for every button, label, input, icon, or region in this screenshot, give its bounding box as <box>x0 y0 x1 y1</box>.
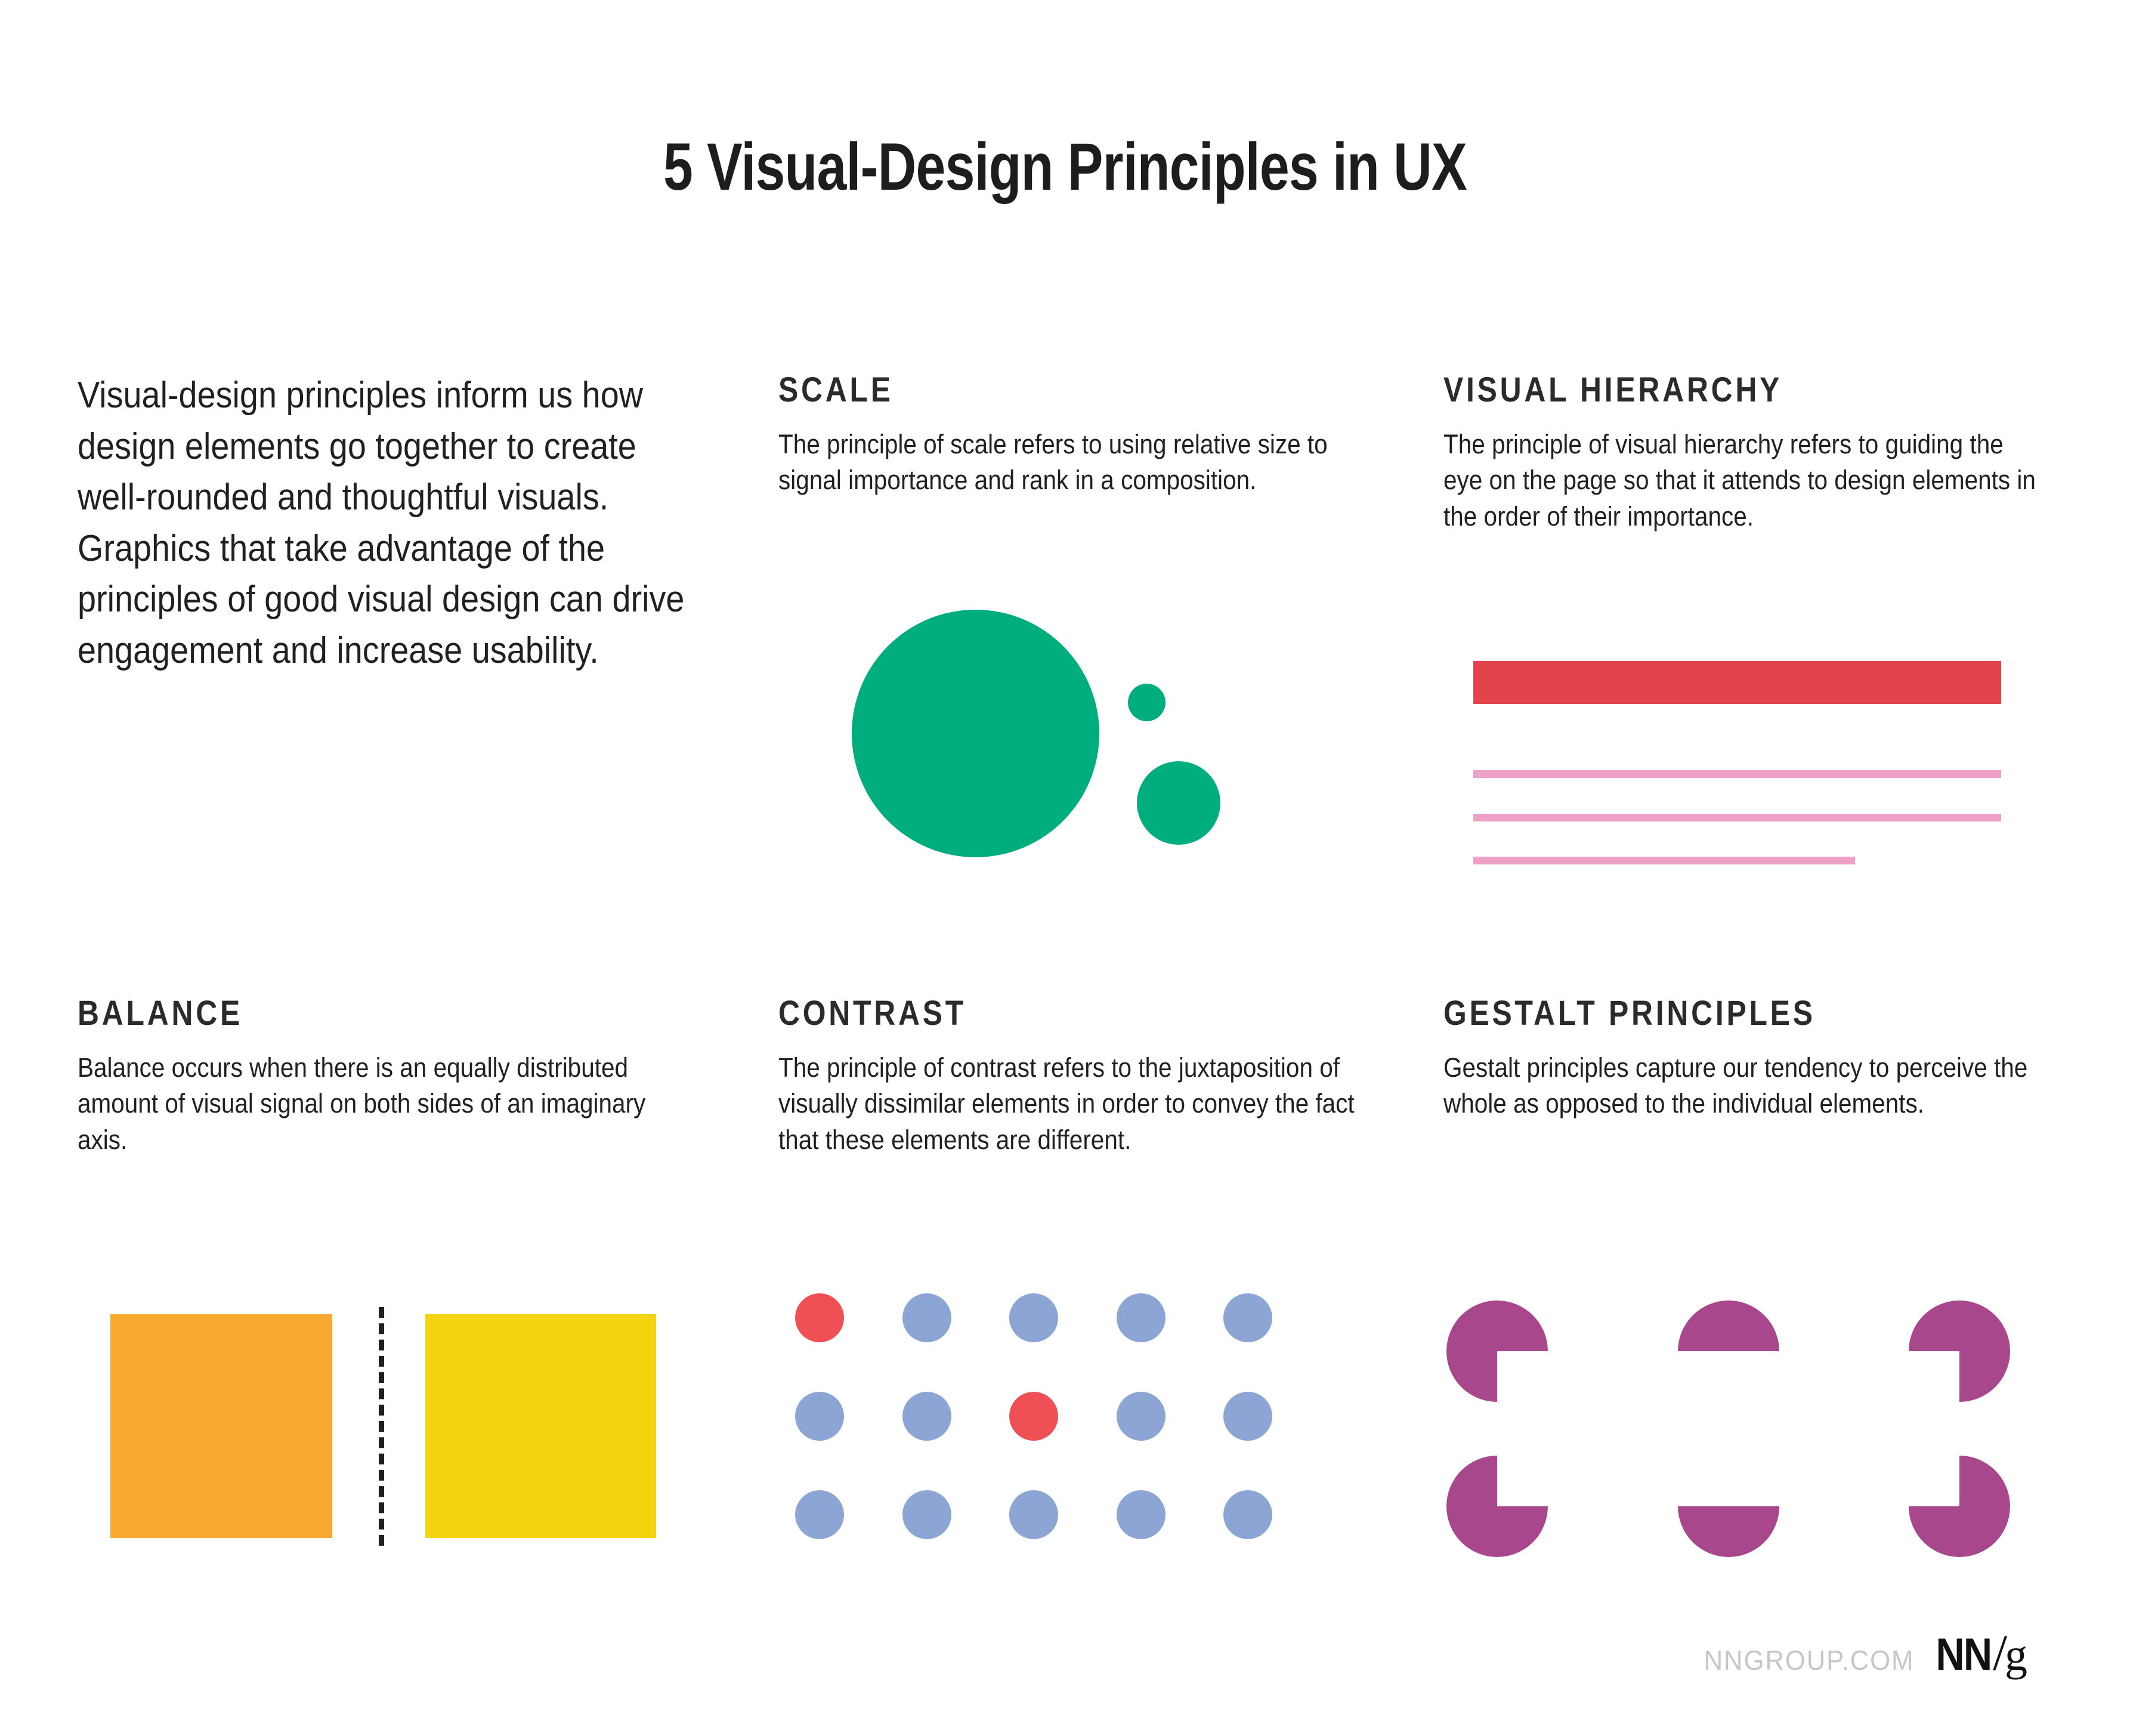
dot-row <box>795 1490 1272 1539</box>
footer-url: NNGROUP.COM <box>1704 1644 1915 1676</box>
dot-blue <box>1009 1293 1058 1342</box>
dot-blue <box>1223 1293 1272 1342</box>
section-heading-contrast: CONTRAST <box>778 993 1271 1033</box>
section-balance: BALANCE Balance occurs when there is an … <box>78 993 698 1158</box>
pacman-top-middle-icon <box>1678 1301 1779 1402</box>
section-gestalt-principles: GESTALT PRINCIPLES Gestalt principles ca… <box>1443 993 2028 1122</box>
gestalt-graphic <box>1446 1301 2010 1557</box>
contrast-graphic <box>795 1293 1272 1539</box>
page-title: 5 Visual-Design Principles in UX <box>213 128 1917 205</box>
yellow-square-icon <box>425 1314 656 1538</box>
pacman-top-right-icon <box>1909 1301 2010 1402</box>
section-body-gestalt-principles: Gestalt principles capture our tendency … <box>1443 1050 2037 1122</box>
footer: NNGROUP.COM NN / g <box>1693 1623 2027 1682</box>
text-line-3-icon <box>1473 857 1855 864</box>
section-scale: SCALE The principle of scale refers to u… <box>778 370 1351 499</box>
small-circle-icon <box>1128 684 1166 721</box>
section-body-scale: The principle of scale refers to using r… <box>778 427 1364 499</box>
pacman-bottom-middle-icon <box>1678 1456 1779 1557</box>
infographic-page: 5 Visual-Design Principles in UX Visual-… <box>0 0 2130 1736</box>
orange-square-icon <box>110 1314 332 1538</box>
dot-blue <box>902 1293 951 1342</box>
section-heading-gestalt-principles: GESTALT PRINCIPLES <box>1443 993 1946 1033</box>
balance-graphic <box>110 1314 656 1538</box>
visual-hierarchy-graphic <box>1473 661 2001 864</box>
section-heading-scale: SCALE <box>778 370 1271 410</box>
large-circle-icon <box>852 610 1099 857</box>
dot-row <box>795 1392 1272 1441</box>
section-heading-balance: BALANCE <box>78 993 611 1033</box>
dot-blue <box>1009 1490 1058 1539</box>
pacman-top-left-icon <box>1446 1301 1548 1402</box>
medium-circle-icon <box>1137 761 1220 845</box>
section-visual-hierarchy: VISUAL HIERARCHY The principle of visual… <box>1443 370 2028 535</box>
section-body-contrast: The principle of contrast refers to the … <box>778 1050 1364 1158</box>
dashed-axis-icon <box>379 1307 384 1546</box>
section-body-visual-hierarchy: The principle of visual hierarchy refers… <box>1443 427 2037 535</box>
emphasis-bar-icon <box>1473 661 2001 704</box>
intro-column: Visual-design principles inform us how d… <box>78 370 698 676</box>
dot-blue <box>795 1392 844 1441</box>
dot-blue <box>795 1490 844 1539</box>
scale-graphic <box>852 610 1222 860</box>
pacman-bottom-left-icon <box>1446 1456 1548 1557</box>
dot-blue <box>1117 1392 1166 1441</box>
dot-blue <box>902 1392 951 1441</box>
section-heading-visual-hierarchy: VISUAL HIERARCHY <box>1443 370 1946 410</box>
logo-nn-text: NN <box>1936 1629 1992 1681</box>
section-body-balance: Balance occurs when there is an equally … <box>78 1050 663 1158</box>
pacman-bottom-right-icon <box>1909 1456 2010 1557</box>
dot-blue <box>1117 1293 1166 1342</box>
dot-blue <box>902 1490 951 1539</box>
nng-logo: NN / g <box>1932 1623 2027 1682</box>
dot-red <box>795 1293 844 1342</box>
section-contrast: CONTRAST The principle of contrast refer… <box>778 993 1351 1158</box>
text-line-2-icon <box>1473 814 2001 821</box>
logo-g-text: g <box>2005 1629 2027 1681</box>
dot-blue <box>1223 1490 1272 1539</box>
dot-row <box>795 1293 1272 1342</box>
intro-paragraph: Visual-design principles inform us how d… <box>78 370 700 676</box>
dot-blue <box>1117 1490 1166 1539</box>
text-line-1-icon <box>1473 770 2001 778</box>
dot-blue <box>1223 1392 1272 1441</box>
dot-red <box>1009 1392 1058 1441</box>
